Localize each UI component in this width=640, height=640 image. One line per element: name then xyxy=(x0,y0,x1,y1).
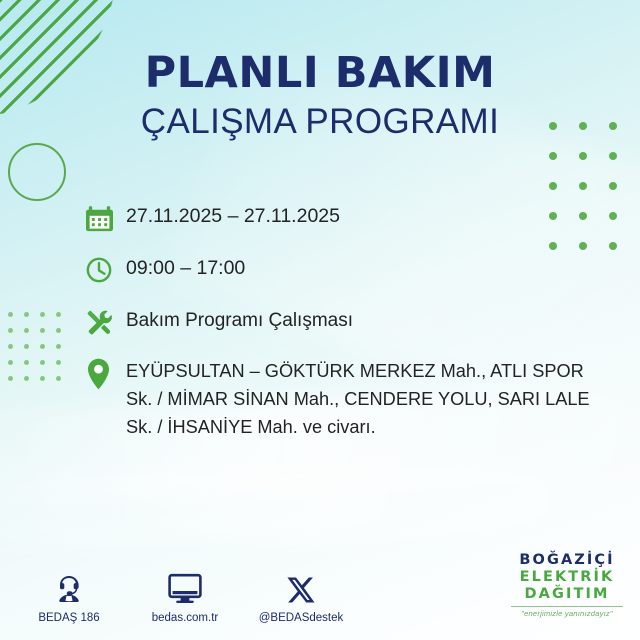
contact-label: BEDAŞ 186 xyxy=(26,612,112,624)
detail-row-date: 27.11.2025 – 27.11.2025 xyxy=(86,200,626,236)
dot xyxy=(609,182,617,190)
contact-website[interactable]: bedas.com.tr xyxy=(142,567,228,624)
x-social-icon xyxy=(258,567,344,605)
contact-x-social[interactable]: @BEDASdestek xyxy=(258,567,344,624)
location-pin-icon xyxy=(86,356,126,398)
contact-label: @BEDASdestek xyxy=(258,612,344,624)
background-sheen-lower xyxy=(0,461,640,550)
detail-row-time: 09:00 – 17:00 xyxy=(86,252,626,288)
dot xyxy=(56,360,61,365)
clock-icon xyxy=(86,252,126,288)
monitor-website-icon xyxy=(142,567,228,605)
dot xyxy=(8,360,13,365)
dot xyxy=(24,328,29,333)
brand-line-elektrik: ELEKTRİK xyxy=(504,569,630,586)
dot xyxy=(8,344,13,349)
address-line: EYÜPSULTAN – GÖKTÜRK MERKEZ Mah., ATLI S… xyxy=(126,361,584,381)
dot xyxy=(56,312,61,317)
brand-logo: BOĞAZİÇİ ELEKTRİK DAĞITIM "enerjimizle y… xyxy=(504,552,630,618)
circle-outline-decoration xyxy=(8,143,66,201)
maintenance-details: 27.11.2025 – 27.11.2025 09:00 – 17:00 xyxy=(86,200,626,442)
planned-maintenance-poster: PLANLI BAKIM ÇALIŞMA PROGRAMI xyxy=(0,0,640,640)
address-line: Sk. / İHSANİYE Mah. ve civarı. xyxy=(126,417,376,437)
dot xyxy=(579,182,587,190)
address-line: Sk. / MİMAR SİNAN Mah., CENDERE YOLU, SA… xyxy=(126,389,590,409)
poster-header: PLANLI BAKIM ÇALIŞMA PROGRAMI xyxy=(0,52,640,139)
tools-icon xyxy=(86,304,126,340)
brand-line-dagitim: DAĞITIM xyxy=(504,586,630,603)
page-title: PLANLI BAKIM xyxy=(0,52,640,95)
brand-divider xyxy=(511,606,623,607)
brand-line-bogazici: BOĞAZİÇİ xyxy=(504,552,630,569)
detail-row-work-type: Bakım Programı Çalışması xyxy=(86,304,626,340)
work-type-text: Bakım Programı Çalışması xyxy=(126,304,353,330)
dot xyxy=(56,344,61,349)
dot xyxy=(8,312,13,317)
dot xyxy=(24,360,29,365)
calendar-icon xyxy=(86,200,126,236)
dot xyxy=(56,328,61,333)
footer-contacts: BEDAŞ 186 bedas.com.tr @BEDASdestek xyxy=(26,567,344,624)
dot xyxy=(40,376,45,381)
time-range-text: 09:00 – 17:00 xyxy=(126,252,245,279)
contact-label: bedas.com.tr xyxy=(142,612,228,624)
dot xyxy=(8,376,13,381)
dot xyxy=(579,152,587,160)
dot xyxy=(24,312,29,317)
headset-support-icon xyxy=(26,567,112,605)
dot xyxy=(549,152,557,160)
dot xyxy=(56,376,61,381)
dot xyxy=(609,152,617,160)
detail-row-address: EYÜPSULTAN – GÖKTÜRK MERKEZ Mah., ATLI S… xyxy=(86,356,626,442)
brand-tagline: "enerjimizle yanınızdayız" xyxy=(504,609,630,618)
dot xyxy=(24,344,29,349)
dot xyxy=(8,328,13,333)
dot xyxy=(549,182,557,190)
dot-grid-left-decoration xyxy=(8,312,72,392)
date-range-text: 27.11.2025 – 27.11.2025 xyxy=(126,200,340,227)
dot xyxy=(24,376,29,381)
address-text: EYÜPSULTAN – GÖKTÜRK MERKEZ Mah., ATLI S… xyxy=(126,356,590,442)
dot xyxy=(40,312,45,317)
contact-call-center[interactable]: BEDAŞ 186 xyxy=(26,567,112,624)
dot xyxy=(40,344,45,349)
page-subtitle: ÇALIŞMA PROGRAMI xyxy=(0,104,640,139)
dot xyxy=(40,360,45,365)
dot xyxy=(40,328,45,333)
